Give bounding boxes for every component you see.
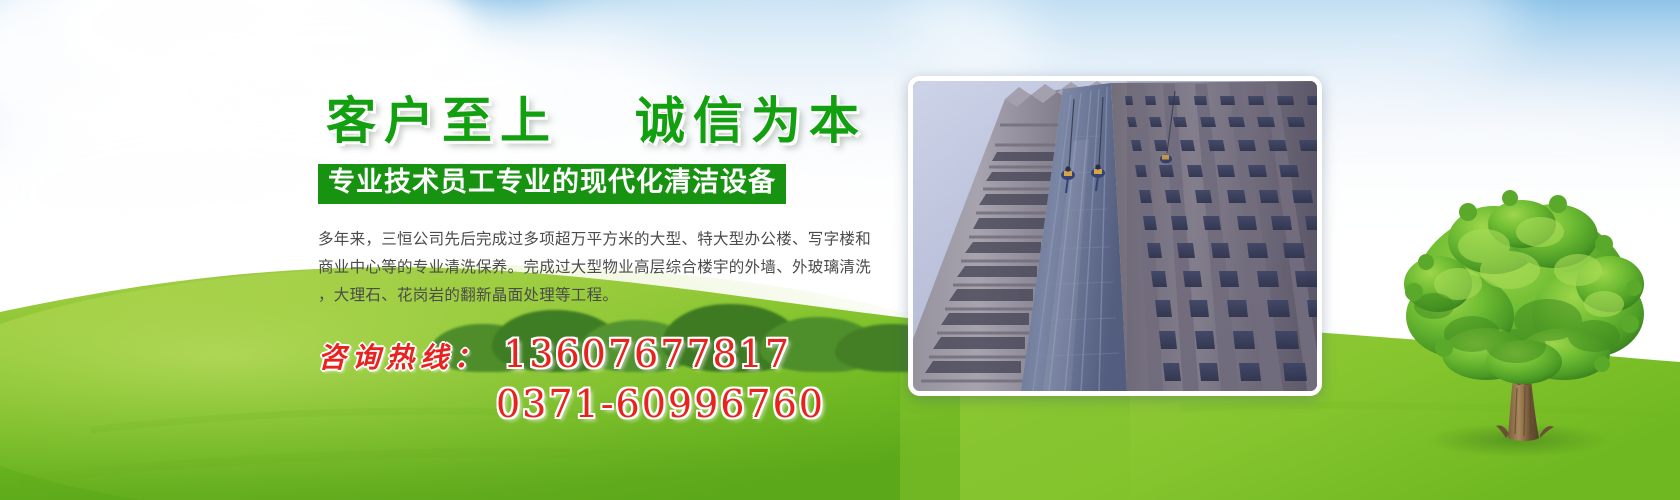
hotline-label: 咨询热线： bbox=[318, 336, 488, 376]
subtitle-bar: 专业技术员工专业的现代化清洁设备 bbox=[318, 164, 786, 204]
tree-icon bbox=[1398, 188, 1648, 458]
description-text: 多年来，三恒公司先后完成过多项超万平方米的大型、特大型办公楼、写字楼和 商业中心… bbox=[318, 226, 884, 308]
description-line: 商业中心等的专业清洗保养。完成过大型物业高层综合楼宇的外墙、外玻璃清洗 bbox=[318, 254, 884, 280]
headline-right-text: 诚信为本 bbox=[635, 91, 867, 150]
hotline-block: 咨询热线： 13607677817 0371-60996760 bbox=[318, 332, 898, 426]
subtitle-text: 专业技术员工专业的现代化清洁设备 bbox=[328, 169, 776, 197]
description-line: ，大理石、花岗岩的翻新晶面处理等工程。 bbox=[318, 282, 884, 308]
promo-banner: 客户至上 诚信为本 专业技术员工专业的现代化清洁设备 多年来，三恒公司先后完成过… bbox=[0, 0, 1680, 500]
tree-illustration bbox=[1398, 188, 1648, 458]
headline-left-text: 客户至上 bbox=[326, 91, 558, 150]
hotline-mobile-number[interactable]: 13607677817 bbox=[503, 332, 791, 376]
promo-text-column: 客户至上 诚信为本 专业技术员工专业的现代化清洁设备 多年来，三恒公司先后完成过… bbox=[318, 96, 898, 426]
page-title: 客户至上 诚信为本 bbox=[318, 96, 898, 146]
description-line: 多年来，三恒公司先后完成过多项超万平方米的大型、特大型办公楼、写字楼和 bbox=[318, 226, 884, 252]
building-photo-card bbox=[908, 76, 1322, 396]
building-photo-image bbox=[913, 81, 1317, 391]
hotline-landline-number[interactable]: 0371-60996760 bbox=[496, 382, 898, 426]
